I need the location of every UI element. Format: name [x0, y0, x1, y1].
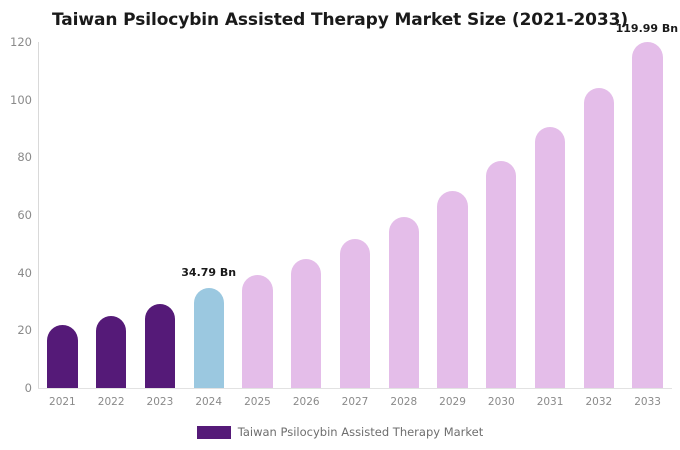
bar[interactable] [584, 88, 614, 388]
x-axis-tick-label: 2024 [195, 396, 222, 408]
x-axis-tick-label: 2031 [537, 396, 564, 408]
x-axis-line [38, 388, 672, 389]
bar[interactable] [535, 127, 565, 388]
x-axis-tick-label: 2030 [488, 396, 515, 408]
x-axis-tick-label: 2026 [293, 396, 320, 408]
legend-swatch [197, 426, 231, 439]
bar[interactable] [340, 239, 370, 388]
bar[interactable] [145, 304, 175, 388]
bar[interactable] [437, 191, 467, 388]
y-axis-tick-label: 40 [2, 266, 32, 280]
x-axis-tick-label: 2027 [342, 396, 369, 408]
x-axis-tick-label: 2022 [98, 396, 125, 408]
bar-chart: Taiwan Psilocybin Assisted Therapy Marke… [0, 0, 680, 450]
y-axis-tick-label: 60 [2, 208, 32, 222]
y-axis-tick-label: 120 [2, 35, 32, 49]
y-axis-tick-label: 100 [2, 93, 32, 107]
x-axis-tick-label: 2025 [244, 396, 271, 408]
bar[interactable] [632, 42, 662, 388]
data-value-label: 34.79 Bn [181, 266, 236, 279]
plot-area [38, 42, 672, 388]
x-axis-tick-label: 2032 [585, 396, 612, 408]
bar[interactable] [96, 316, 126, 388]
x-axis-tick-label: 2023 [147, 396, 174, 408]
bar[interactable] [47, 325, 77, 388]
data-value-label: 119.99 Bn [616, 22, 679, 35]
x-axis-tick-label: 2029 [439, 396, 466, 408]
x-axis-tick-label: 2021 [49, 396, 76, 408]
legend-label: Taiwan Psilocybin Assisted Therapy Marke… [238, 425, 484, 439]
y-axis-tick-label: 20 [2, 323, 32, 337]
y-axis: 020406080100120 [0, 0, 32, 450]
chart-title: Taiwan Psilocybin Assisted Therapy Marke… [0, 10, 680, 30]
y-axis-tick-label: 80 [2, 150, 32, 164]
chart-legend: Taiwan Psilocybin Assisted Therapy Marke… [0, 425, 680, 439]
bar[interactable] [486, 161, 516, 388]
bar[interactable] [389, 217, 419, 388]
y-axis-tick-label: 0 [2, 381, 32, 395]
x-axis-tick-label: 2033 [634, 396, 661, 408]
x-axis-tick-label: 2028 [390, 396, 417, 408]
bar[interactable] [194, 288, 224, 388]
bar[interactable] [291, 259, 321, 388]
bar[interactable] [242, 275, 272, 388]
